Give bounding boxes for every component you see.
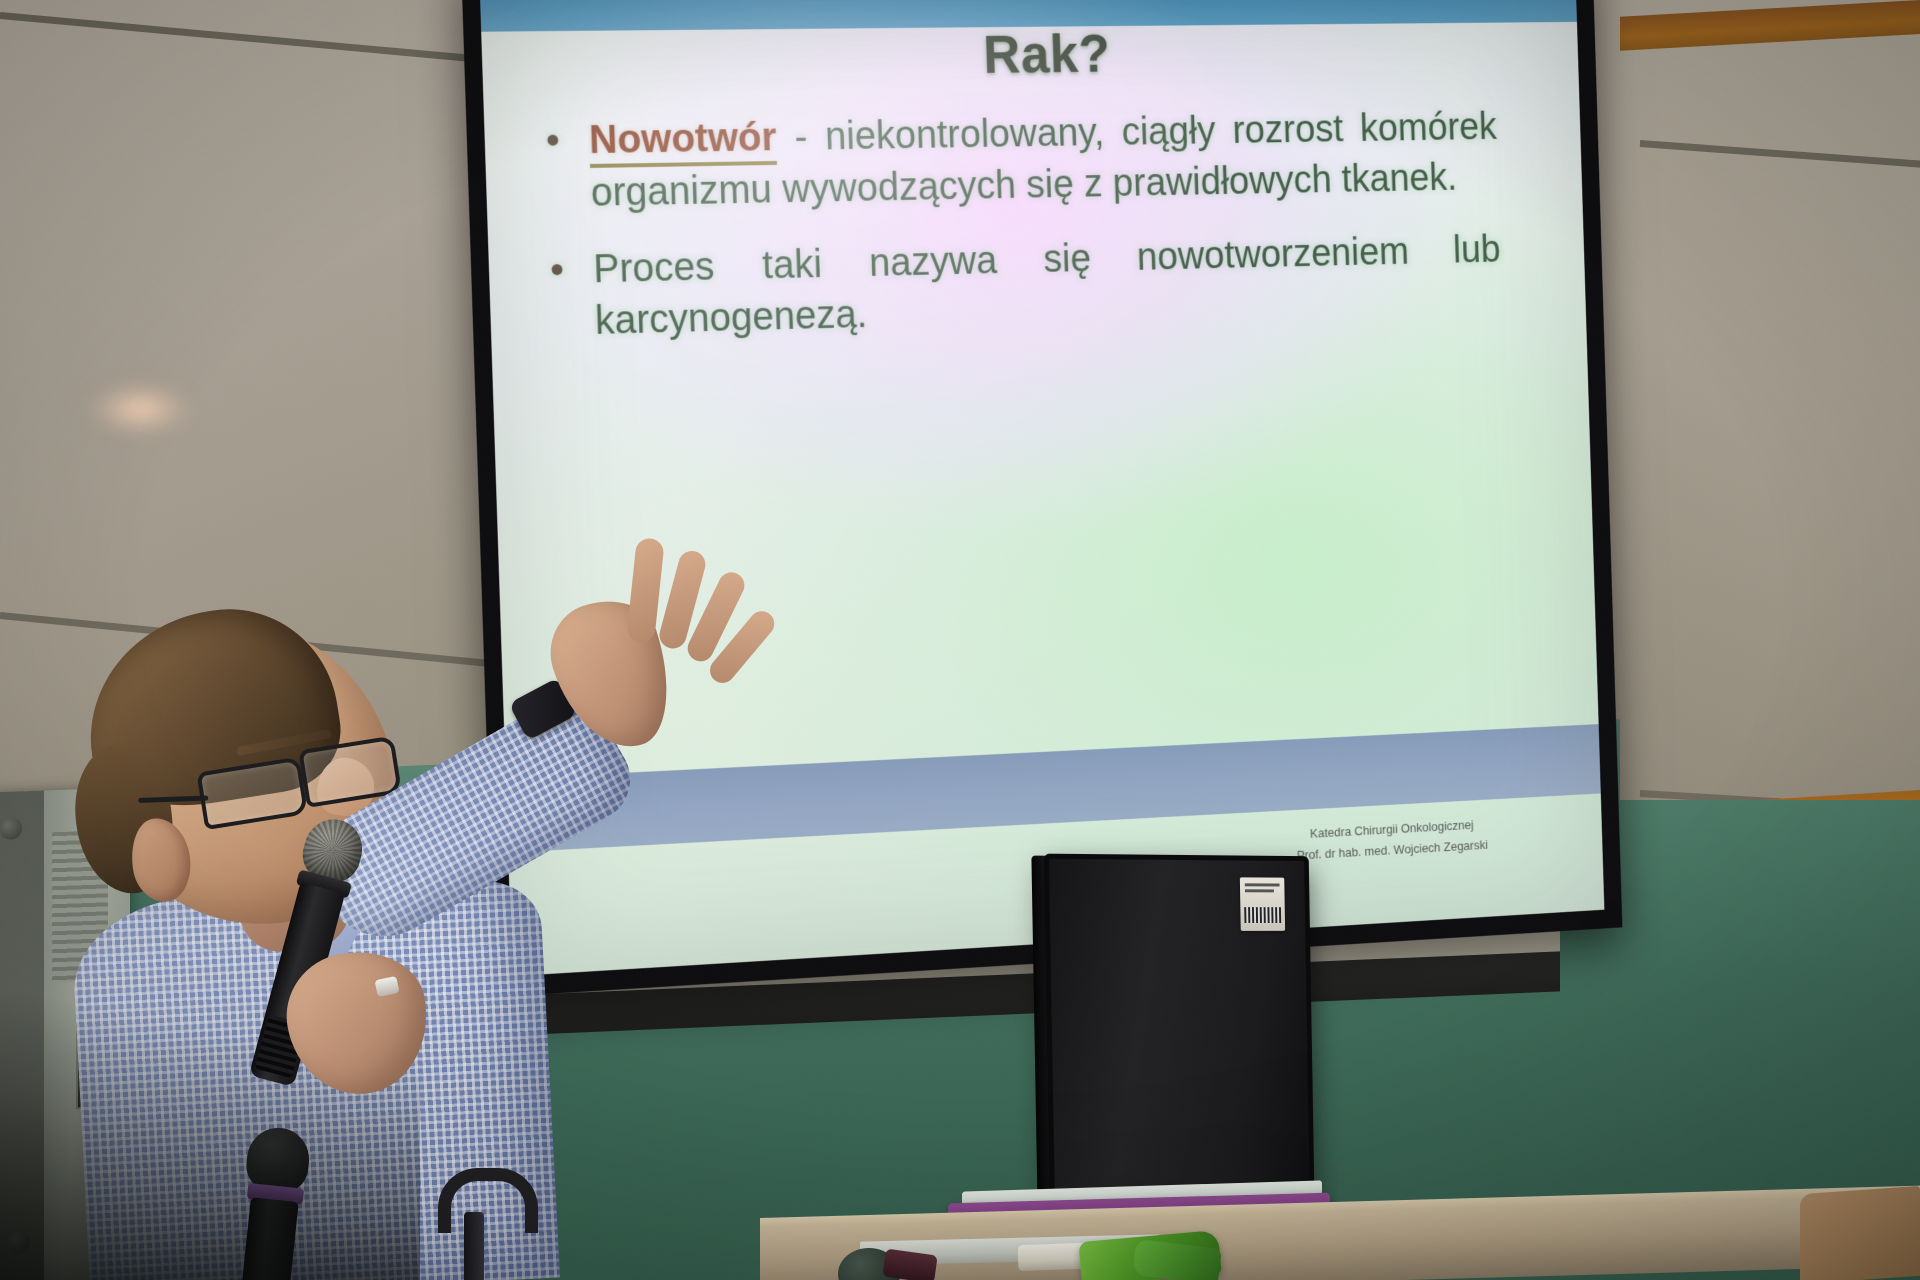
foreground-microphone: [220, 1123, 334, 1280]
equipment-cabinet-side: [0, 791, 44, 1280]
foreground-microphone-body: [238, 1197, 298, 1280]
bullet-marker: •: [549, 243, 596, 349]
lecture-hall-photo: Rak? • Nowotwór - niekontrolowany, ciągł…: [0, 0, 1920, 1280]
slide-bullet-1: • Nowotwór - niekontrolowany, ciągły roz…: [545, 102, 1499, 220]
bullet-keyword-1: Nowotwór: [588, 116, 777, 168]
asset-sticker: [1240, 877, 1285, 931]
barcode-icon: [1244, 907, 1281, 923]
slide-body: • Nowotwór - niekontrolowany, ciągły roz…: [545, 102, 1503, 373]
ceiling-light-reflection: [85, 380, 195, 438]
bullet-text-2: Proces taki nazywa się nowotworzeniem lu…: [593, 224, 1503, 348]
chair-right: [1800, 1186, 1920, 1280]
wall-panel-right: [1570, 0, 1920, 880]
slide-title: Rak?: [481, 18, 1579, 92]
slide-bullet-2: • Proces taki nazywa się nowotworzeniem …: [549, 224, 1502, 349]
sticker-text-line: [1245, 883, 1280, 886]
bullet-marker: •: [545, 114, 592, 220]
eyeglasses-left-lens: [196, 757, 308, 831]
bullet-text-1: Nowotwór - niekontrolowany, ciągły rozro…: [588, 102, 1499, 219]
microphone-stand-clip: [438, 1168, 512, 1280]
sticker-text-line: [1245, 889, 1274, 892]
